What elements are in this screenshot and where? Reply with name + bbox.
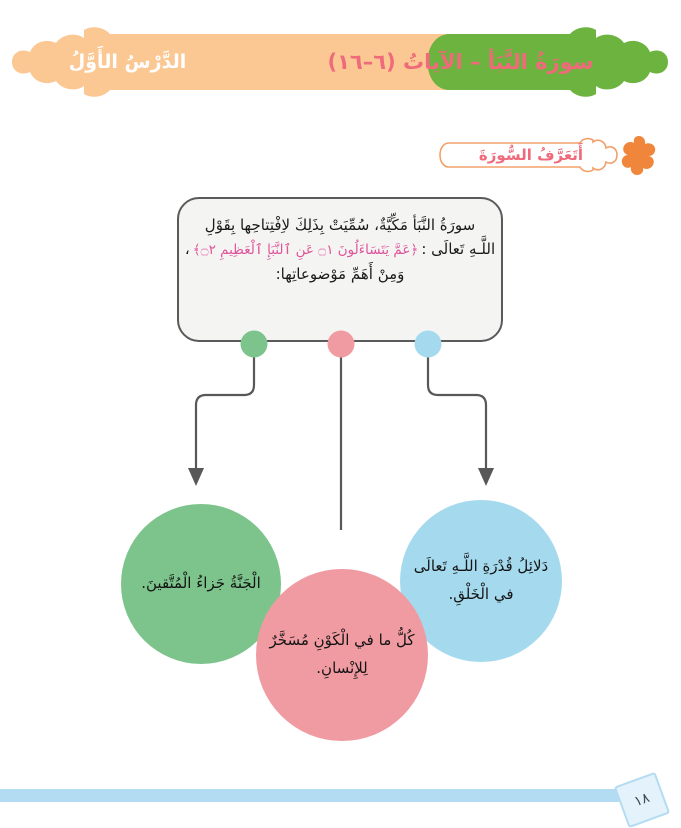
- topic-circle-pink: كُلُّ ما في الْكَوْنِ مُسَخَّرٌ لِلإِنْس…: [256, 569, 428, 741]
- topic-circle-pink-text: كُلُّ ما في الْكَوْنِ مُسَخَّرٌ لِلإِنْس…: [266, 627, 418, 683]
- page-number-badge: ١٨: [614, 772, 670, 828]
- topic-circle-green-text: الْجَنَّةُ جَزاءُ الْمُتَّقينَ.: [141, 570, 261, 598]
- arrow-head-green: [188, 468, 204, 486]
- connector-line-green: [196, 344, 254, 470]
- intro-text-card: سورَةُ النَّبَأ مَكِّيَّةٌ، سُمِّيَتْ بِ…: [177, 197, 503, 342]
- arrow-head-blue: [478, 468, 494, 486]
- intro-line-2-prefix: اللَّـهِ تَعالَى :: [421, 237, 495, 261]
- intro-line-1: سورَةُ النَّبَأ مَكِّيَّةٌ، سُمِّيَتْ بِ…: [179, 213, 501, 237]
- page-number: ١٨: [632, 790, 652, 810]
- header-banner-band: سورَةُ النَّبَأ – الآياتُ (٦–١٦) الدَّرْ…: [0, 26, 681, 98]
- dot-blue: [415, 331, 442, 358]
- dot-green: [241, 331, 268, 358]
- intro-line-2-suffix: ،: [185, 237, 190, 261]
- quran-ayah-text: ﴿عَمَّ يَتَسَاءَلُونَ ۝١ عَنِ ٱلنَّبَإِ …: [193, 240, 419, 262]
- section-label-plate: [433, 137, 629, 173]
- intro-line-2: اللَّـهِ تَعالَى : ﴿عَمَّ يَتَسَاءَلُونَ…: [179, 237, 501, 262]
- section-header: أَتَعَرَّفُ السُّورَةَ: [429, 132, 659, 178]
- intro-line-3: وَمِنْ أَهَمِّ مَوْضوعاتِها:: [179, 262, 501, 286]
- footer-bar: [0, 789, 652, 802]
- connector-diagram: [0, 330, 681, 530]
- connector-line-blue: [428, 344, 486, 470]
- dot-pink: [328, 331, 355, 358]
- topic-circle-blue-text: دَلائِلُ قُدْرَةِ اللَّـهِ تَعالَى في ال…: [410, 553, 552, 609]
- lesson-banner-shape: [428, 27, 669, 97]
- lesson-page: سورَةُ النَّبَأ – الآياتُ (٦–١٦) الدَّرْ…: [0, 0, 681, 828]
- banner-shapes: [0, 26, 681, 98]
- surah-banner-shape: [12, 27, 493, 97]
